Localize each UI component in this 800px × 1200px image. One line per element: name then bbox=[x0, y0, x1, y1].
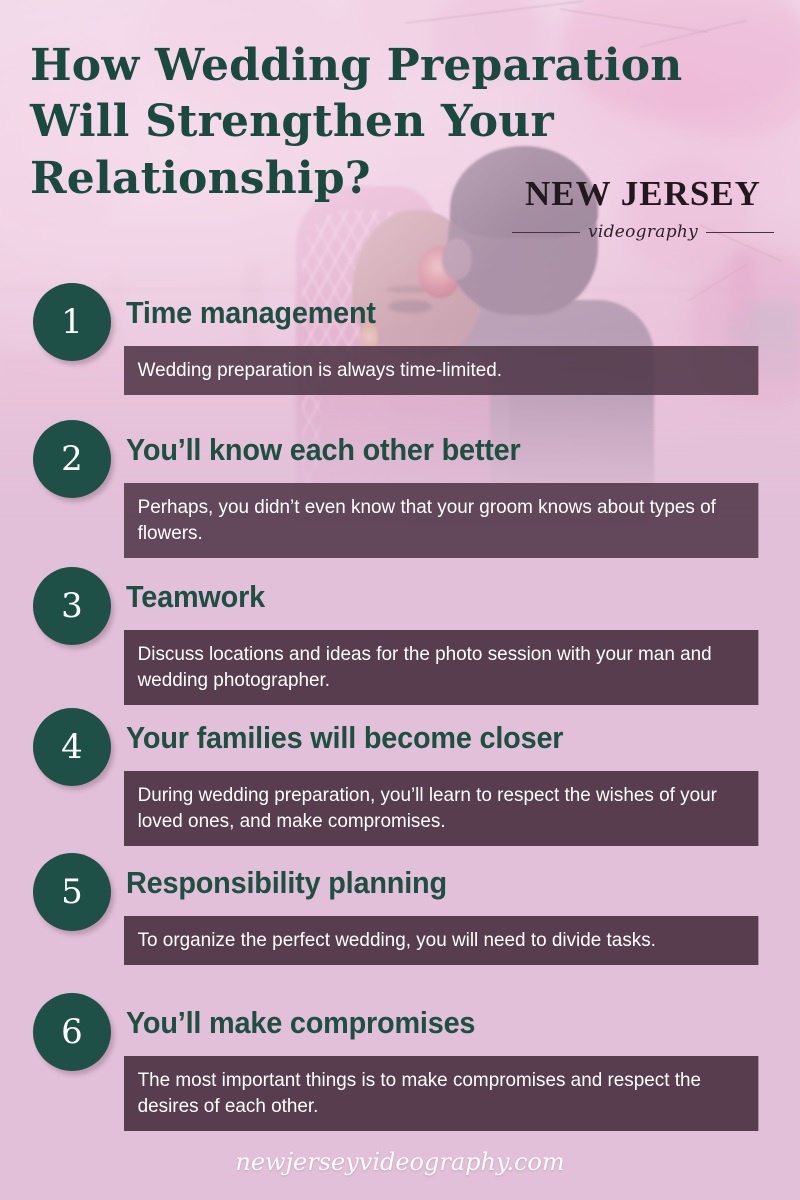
item-title: Time management bbox=[126, 295, 376, 331]
item-number-badge: 4 bbox=[33, 708, 111, 786]
item-description: To organize the perfect wedding, you wil… bbox=[124, 916, 758, 965]
logo-rule-left bbox=[512, 232, 580, 233]
item-title: You’ll make compromises bbox=[126, 1005, 475, 1041]
item-description: Discuss locations and ideas for the phot… bbox=[124, 630, 758, 705]
item-description: The most important things is to make com… bbox=[124, 1056, 758, 1131]
brand-logo-subtitle-row: videography bbox=[512, 222, 774, 242]
item-description: Wedding preparation is always time-limit… bbox=[124, 346, 758, 395]
page-title-line-2: Will Strengthen Your bbox=[30, 94, 720, 150]
item-description: Perhaps, you didn’t even know that your … bbox=[124, 483, 758, 558]
logo-rule-right bbox=[706, 232, 774, 233]
item-title: You’ll know each other better bbox=[126, 432, 521, 468]
item-title: Teamwork bbox=[126, 579, 265, 615]
footer-website[interactable]: newjerseyvideography.com bbox=[0, 1148, 800, 1176]
item-number-badge: 6 bbox=[33, 993, 111, 1071]
item-number-badge: 2 bbox=[33, 420, 111, 498]
item-number-badge: 3 bbox=[33, 567, 111, 645]
page-title-line-1: How Wedding Preparation bbox=[30, 38, 720, 94]
brand-logo-subtitle: videography bbox=[588, 222, 698, 242]
item-title: Responsibility planning bbox=[126, 865, 447, 901]
item-description: During wedding preparation, you’ll learn… bbox=[124, 771, 758, 846]
item-number-badge: 5 bbox=[33, 853, 111, 931]
item-title: Your families will become closer bbox=[126, 720, 563, 756]
brand-logo-name: NEW JERSEY bbox=[512, 176, 774, 211]
item-number-badge: 1 bbox=[33, 283, 111, 361]
brand-logo: NEW JERSEY videography bbox=[512, 176, 774, 242]
